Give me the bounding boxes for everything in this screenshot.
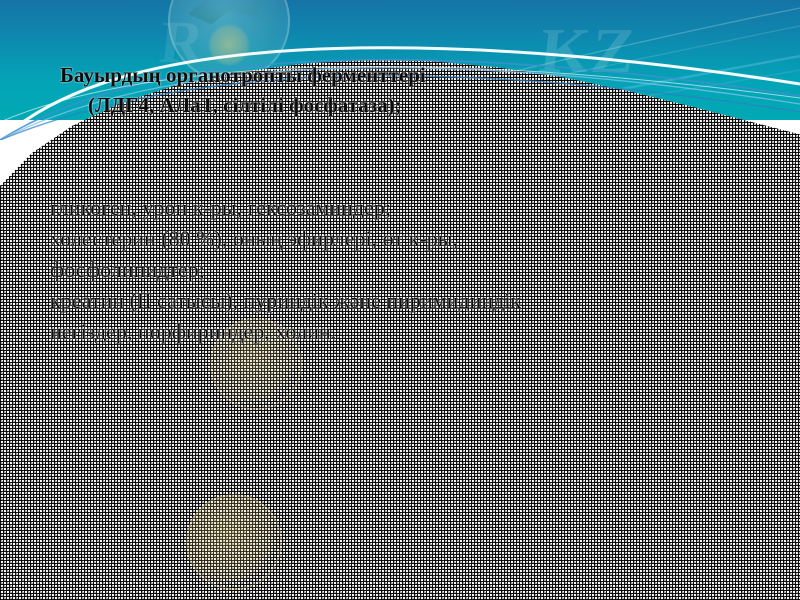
body-line-4: креатин (ІІ сатысы), пуриндік және пирим… [50,285,770,316]
body-line-2: холестерин (80 %), оның эфирлері, өт к-р… [50,223,770,254]
slide-canvas: R KZ Бауырдың органотропты ферменттері (… [0,0,800,600]
slide-body: гликоген, урон к-ры, гексозаминдер; холе… [50,192,770,347]
body-line-1: гликоген, урон к-ры, гексозаминдер; [50,192,770,223]
body-line-5: негіздер, порфириндер, холин. [50,316,770,347]
body-line-3: фосфолипидтер; [50,254,770,285]
slide-title: Бауырдың органотропты ферменттері (ЛДГ4,… [60,60,760,120]
watermark-circle-bottom [186,494,282,590]
title-line-1: Бауырдың органотропты ферменттері [60,63,426,87]
title-line-2: (ЛДГ4, АЛаТ, сілтілі фосфатаза); [60,90,760,120]
